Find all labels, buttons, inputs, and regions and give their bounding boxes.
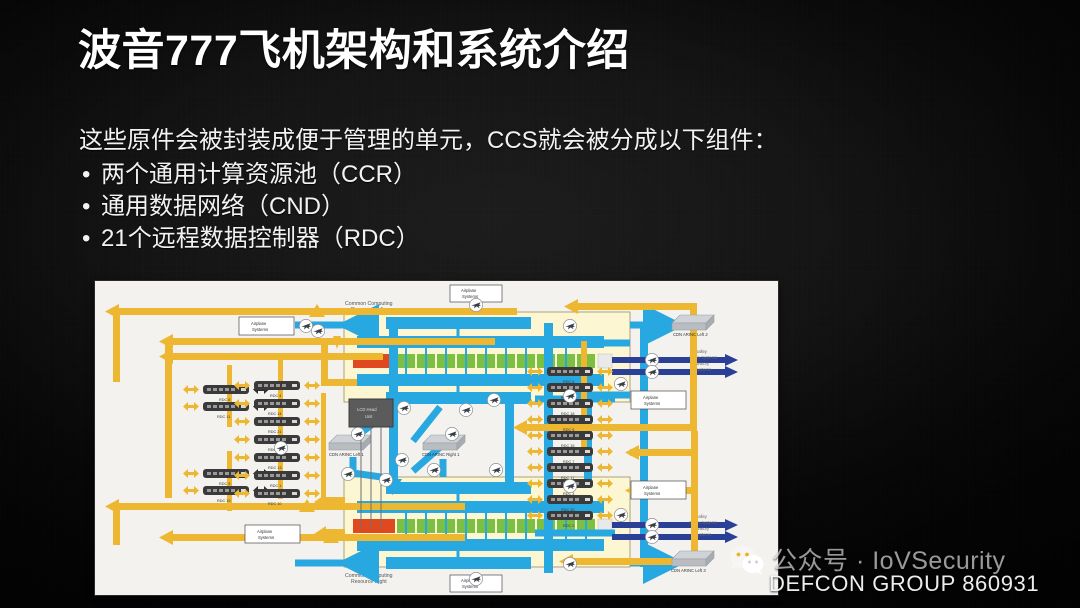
defcon-group-watermark: DEFCON GROUP 860931: [769, 571, 1039, 597]
svg-text:Unit: Unit: [365, 414, 373, 419]
svg-text:CDN ARINC Left 2: CDN ARINC Left 2: [673, 332, 708, 337]
airplane-systems-box: Airplane Systems: [631, 391, 686, 409]
svg-text:RDC 19: RDC 19: [217, 499, 231, 503]
bullet-list: • 两个通用计算资源池（CCR） • 通用数据网络（CND） • 21个远程数据…: [79, 160, 939, 254]
svg-text:Systems: Systems: [644, 401, 660, 406]
svg-text:CDN ARINC Left 1: CDN ARINC Left 1: [329, 452, 364, 457]
wechat-icon: [729, 544, 765, 576]
list-item: • 两个通用计算资源池（CCR）: [79, 160, 939, 190]
svg-text:Airplane: Airplane: [257, 529, 273, 534]
body-copy: 这些原件会被封装成便于管理的单元，CCS就会被分成以下组件： • 两个通用计算资…: [79, 126, 939, 256]
architecture-diagram: Common Computing Resource Left: [95, 281, 778, 595]
bullet-icon: •: [82, 160, 90, 190]
cdn-switch-right-1: CDN ARINC Right 1: [422, 435, 465, 457]
list-item-label: 21个远程数据控制器（RDC）: [101, 225, 420, 252]
list-item-label: 通用数据网络（CND）: [101, 193, 345, 220]
svg-text:Systems: Systems: [644, 491, 660, 496]
svg-text:Systems: Systems: [695, 367, 711, 372]
svg-text:RDC 11: RDC 11: [217, 415, 230, 419]
svg-text:Systems: Systems: [258, 535, 274, 540]
list-item: • 通用数据网络（CND）: [79, 192, 939, 222]
slide-root: 波音777飞机架构和系统介绍 这些原件会被封装成便于管理的单元，CCS就会被分成…: [0, 0, 1080, 608]
svg-text:Airplane: Airplane: [643, 395, 659, 400]
airplane-systems-box: Airplane Systems: [245, 525, 300, 543]
bullet-icon: •: [82, 192, 90, 222]
svg-text:Airplane: Airplane: [461, 288, 477, 293]
svg-text:CDN ARINC Right 1: CDN ARINC Right 1: [422, 452, 460, 457]
svg-text:RDC 8: RDC 8: [219, 398, 230, 402]
svg-text:RDC 2: RDC 2: [563, 524, 574, 528]
svg-text:LCD Head: LCD Head: [357, 407, 377, 412]
airplane-systems-box: Airplane Systems: [239, 317, 294, 335]
svg-text:CDN ARINC Left 3: CDN ARINC Left 3: [671, 568, 706, 573]
svg-text:Airplane: Airplane: [643, 485, 659, 490]
svg-text:RDC 13: RDC 13: [268, 466, 282, 470]
lead-paragraph: 这些原件会被封装成便于管理的单元，CCS就会被分成以下组件：: [79, 126, 939, 156]
svg-text:Systems: Systems: [252, 327, 268, 332]
svg-text:RDC 21: RDC 21: [268, 430, 282, 434]
svg-text:RDC 10: RDC 10: [268, 502, 282, 506]
svg-text:RDC 14: RDC 14: [268, 412, 282, 416]
architecture-diagram-panel: Common Computing Resource Left: [95, 281, 778, 595]
list-item-label: 两个通用计算资源池（CCR）: [101, 161, 417, 188]
svg-text:RDC 4: RDC 4: [270, 394, 281, 398]
svg-text:Airplane: Airplane: [251, 321, 267, 326]
svg-text:RDC 1: RDC 1: [270, 484, 281, 488]
bullet-icon: •: [82, 224, 90, 254]
airplane-systems-box: Airplane Systems: [631, 481, 686, 499]
svg-text:Resource Right: Resource Right: [351, 579, 387, 585]
page-title: 波音777飞机架构和系统介绍: [78, 28, 630, 75]
list-item: • 21个远程数据控制器（RDC）: [79, 224, 939, 254]
svg-text:RDC 9: RDC 9: [219, 482, 230, 486]
